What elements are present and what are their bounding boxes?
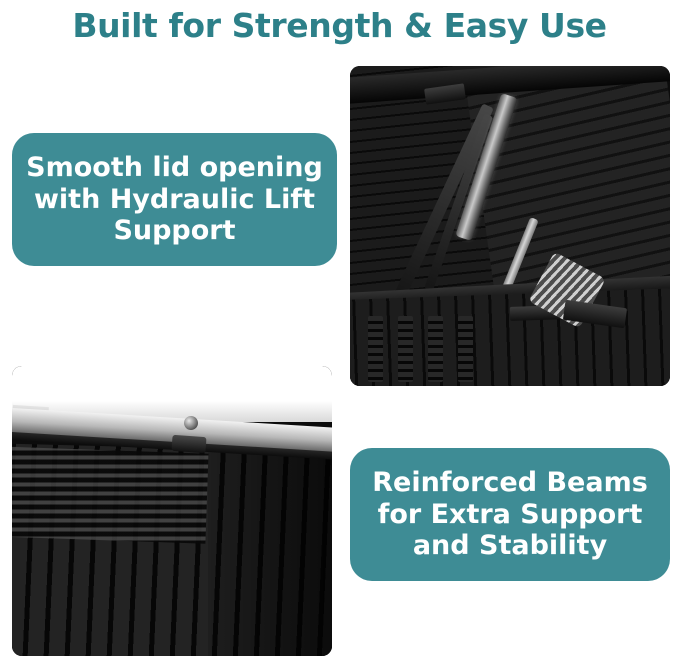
rib-column [368, 316, 383, 382]
rail-bracket [171, 435, 206, 453]
callout-reinforced-beams: Reinforced Beams for Extra Support and S… [350, 448, 670, 581]
callout-smooth-lid: Smooth lid opening with Hydraulic Lift S… [12, 133, 337, 266]
rib-column [458, 316, 473, 382]
promo-page: Built for Strength & Easy Use Smooth lid… [0, 0, 679, 656]
rib-column [398, 316, 413, 382]
louvered-section [12, 446, 209, 543]
callout-reinforced-beams-line-2: for Extra Support [372, 499, 648, 531]
hydraulic-lift-photo [350, 66, 670, 386]
page-title: Built for Strength & Easy Use [0, 6, 679, 45]
callout-reinforced-beams-line-3: and Stability [372, 530, 648, 562]
callout-smooth-lid-line-2: with Hydraulic Lift [26, 184, 323, 216]
callout-reinforced-beams-line-1: Reinforced Beams [372, 467, 648, 499]
callout-smooth-lid-line-1: Smooth lid opening [26, 152, 323, 184]
callout-smooth-lid-text: Smooth lid opening with Hydraulic Lift S… [26, 152, 323, 248]
shadow-overlay [208, 444, 332, 656]
rib-column [428, 316, 443, 382]
callout-smooth-lid-line-3: Support [26, 215, 323, 247]
callout-reinforced-beams-text: Reinforced Beams for Extra Support and S… [372, 467, 648, 563]
reinforced-beams-photo [12, 366, 332, 656]
